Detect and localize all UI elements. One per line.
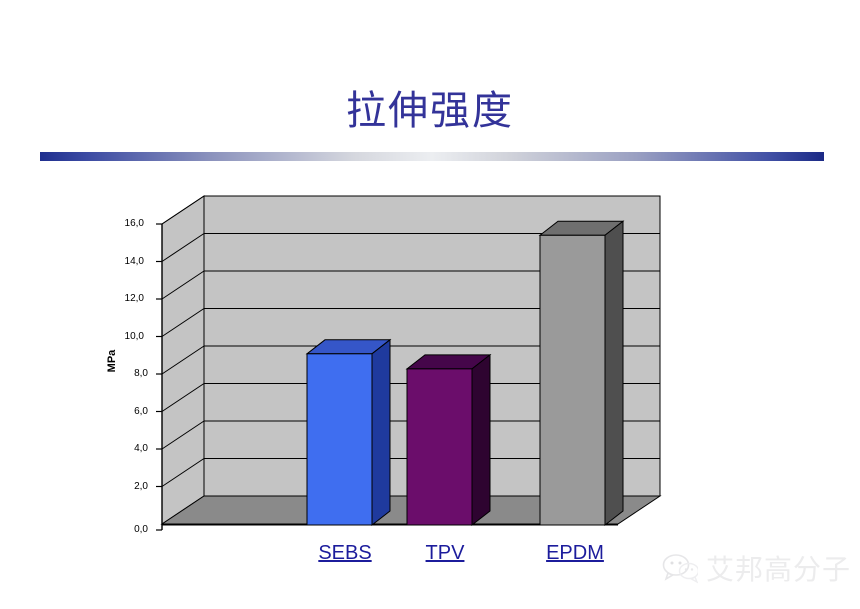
y-axis-title: MPa bbox=[106, 341, 118, 381]
ytick-label-0: 0,0 bbox=[114, 525, 148, 535]
ytick-label-6: 6,0 bbox=[114, 407, 148, 417]
category-label-epdm[interactable]: EPDM bbox=[525, 542, 625, 565]
ytick-label-10: 10,0 bbox=[110, 332, 144, 342]
watermark: 艾邦高分子 bbox=[662, 548, 851, 588]
ytick-label-2: 2,0 bbox=[114, 482, 148, 492]
bar-tpv[interactable] bbox=[407, 355, 490, 525]
ytick-label-14: 14,0 bbox=[110, 257, 144, 267]
ytick-label-8: 8,0 bbox=[114, 369, 148, 379]
tensile-strength-3d-bar-chart bbox=[100, 180, 720, 580]
ytick-label-4: 4,0 bbox=[114, 444, 148, 454]
y-axis-ticks bbox=[156, 224, 162, 530]
category-label-sebs[interactable]: SEBS bbox=[300, 542, 390, 565]
page-title: 拉伸强度 bbox=[0, 88, 860, 134]
category-label-tpv[interactable]: TPV bbox=[400, 542, 490, 565]
wechat-icon bbox=[662, 552, 698, 584]
ytick-label-12: 12,0 bbox=[110, 294, 144, 304]
ytick-label-16: 16,0 bbox=[110, 219, 144, 229]
title-divider bbox=[40, 152, 824, 161]
bar-epdm[interactable] bbox=[540, 221, 623, 525]
chart-container: 0,0 2,0 4,0 6,0 8,0 10,0 12,0 14,0 16,0 … bbox=[100, 180, 720, 580]
bar-sebs[interactable] bbox=[307, 340, 390, 525]
watermark-text: 艾邦高分子 bbox=[706, 548, 851, 588]
